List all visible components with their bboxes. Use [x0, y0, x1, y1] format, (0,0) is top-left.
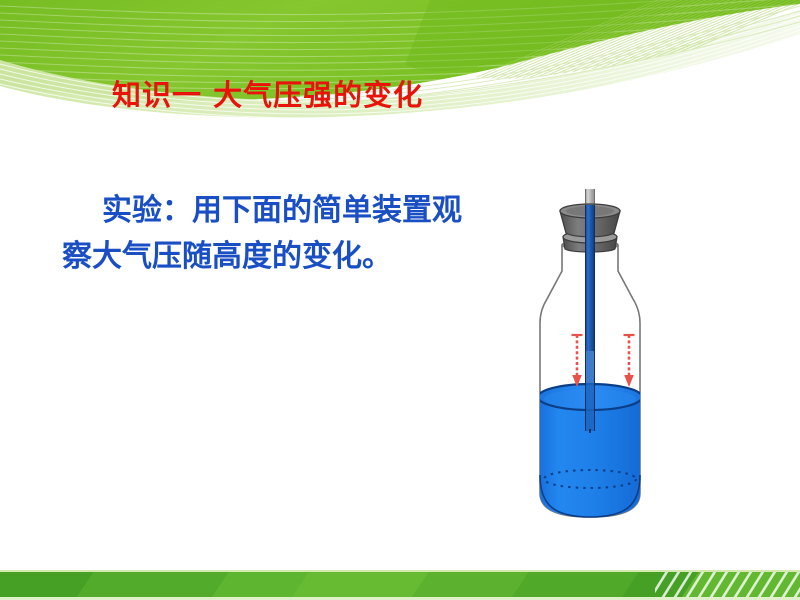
footer-bar-fill [0, 570, 800, 600]
bottle-barometer-diagram [520, 175, 700, 525]
slide-canvas: 知识一 大气压强的变化 实验：用下面的简单装置观 察大气压随高度的变化。 [0, 0, 800, 600]
body-paragraph: 实验：用下面的简单装置观 察大气压随高度的变化。 [62, 188, 532, 279]
header-green-decoration [0, 0, 800, 140]
glass-tube-through-stopper [585, 205, 595, 253]
footer-green-bar [0, 570, 800, 600]
body-line-1: 实验：用下面的简单装置观 [62, 188, 532, 234]
body-line-2: 察大气压随高度的变化。 [62, 234, 532, 280]
page-title: 知识一 大气压强的变化 [112, 78, 423, 113]
glass-tube-submerged [585, 351, 595, 433]
